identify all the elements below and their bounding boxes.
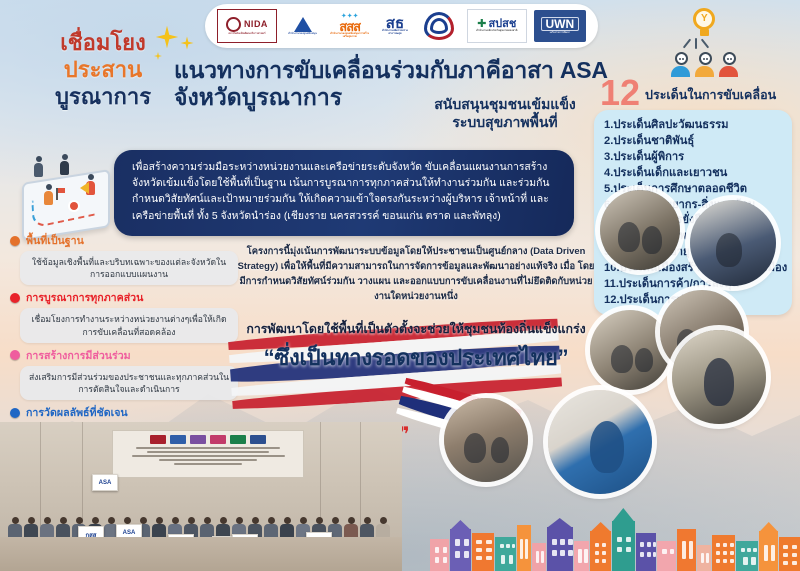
- uwn-logo-text: UWN: [541, 17, 580, 31]
- list-item: 3.ประเด็นผู้พิการ: [604, 150, 784, 166]
- spiral-logo: [419, 10, 460, 42]
- bulb-ray-center-icon: [695, 38, 697, 49]
- sss-thaihealth-logo: ✦✦✦ สสส สำนักงานกองทุนสนับสนุนการสร้างเส…: [328, 10, 371, 42]
- headline-line-1: แนวทางการขับเคลื่อนร่วมกับภาคีอาสา ASA: [174, 58, 614, 84]
- bullet-dot-icon: [10, 293, 20, 303]
- uwn-logo: UWN เครือข่ายการพัฒนา: [534, 10, 586, 42]
- principle-body: เชื่อมโยงการทำงานระหว่างหน่วยงานต่างๆเพื…: [20, 308, 238, 342]
- principle-item-integration: การบูรณาการทุกภาคส่วน เชื่อมโยงการทำงานร…: [6, 289, 238, 342]
- center-quote: “ซึ่งเป็นทางรอดของประเทศไทย”: [226, 340, 606, 375]
- person-icon-orange: [695, 52, 715, 77]
- nida-logo: NIDA สถาบันบัณฑิตพัฒนบริหารศาสตร์: [217, 9, 277, 43]
- bullet-dot-icon: [10, 236, 20, 246]
- subtitle-line-2: ระบบสุขภาพพื้นที่: [390, 114, 620, 132]
- principle-title: การสร้างการมีส่วนร่วม: [26, 347, 131, 364]
- spsch-logo-sub: สำนักงานหลักประกันสุขภาพแห่งชาติ: [476, 30, 517, 33]
- bullet-dot-icon: [10, 350, 20, 360]
- sss-logo-sub: สำนักงานกองทุนสนับสนุนการสร้างเสริมสุขภา…: [328, 33, 371, 38]
- principle-title: พื้นที่เป็นฐาน: [26, 232, 84, 249]
- lightbulb-people-graphic: Y: [665, 8, 745, 80]
- points-count: 12: [600, 78, 640, 109]
- list-item: 1.ประเด็นศิลปะวัฒนธรรม: [604, 118, 784, 134]
- moph-logo-sub: สำนักงานปลัดกระทรวงสาธารณสุข: [378, 30, 412, 35]
- center-paragraph: โครงการนี้มุ่งเน้นการพัฒนาระบบข้อมูลโดยใ…: [236, 244, 596, 303]
- nida-logo-text: NIDA: [244, 20, 268, 29]
- circle-photo-speaker-male: [672, 330, 766, 424]
- principle-title: การวัดผลลัพธ์ที่ชัดเจน: [26, 404, 128, 421]
- stage-backdrop-screen: [112, 430, 304, 478]
- principle-title: การบูรณาการทุกภาคส่วน: [26, 289, 143, 306]
- center-tagline: การพัฒนาโดยใช้พื้นที่เป็นตัวตั้งจะช่วยให…: [236, 320, 596, 339]
- intro-text-box: เพื่อสร้างความร่วมมือระหว่างหน่วยงานและเ…: [114, 150, 574, 236]
- map-planning-illustration: [8, 152, 126, 240]
- triangle-agency-logo: สำนักงานกองทุนสนับสนุน: [284, 10, 321, 42]
- list-item: 2.ประเด็นชาติพันธุ์: [604, 134, 784, 150]
- principle-body: ส่งเสริมการมีส่วนร่วมของประชาชนและทุกภาค…: [20, 366, 238, 400]
- city-skyline-graphic: [430, 518, 800, 571]
- sss-logo-text: สสส: [339, 20, 360, 33]
- person-icon-red: [719, 52, 739, 77]
- circle-photo-seminar: [590, 310, 670, 390]
- circle-photo-discussion: [444, 398, 528, 482]
- three-people-icon: [671, 52, 739, 77]
- points-header: 12 ประเด็นในการขับเคลื่อน: [600, 78, 776, 109]
- principle-item-area-based: พื้นที่เป็นฐาน ใช้ข้อมูลเชิงพื้นที่และบร…: [6, 232, 238, 285]
- subtitle: สนับสนุนชุมชนเข้มแข็ง ระบบสุขภาพพื้นที่: [390, 96, 620, 132]
- moph-logo-text: สธ: [386, 17, 404, 30]
- nida-logo-sub: สถาบันบัณฑิตพัฒนบริหารศาสตร์: [228, 33, 265, 36]
- subtitle-line-1: สนับสนุนชุมชนเข้มแข็ง: [390, 96, 620, 114]
- moph-logo: สธ สำนักงานปลัดกระทรวงสาธารณสุข: [378, 10, 412, 42]
- bulb-ray-right-icon: [701, 39, 709, 49]
- crowd: [0, 474, 402, 546]
- lightbulb-icon: Y: [693, 8, 717, 38]
- bulb-ray-left-icon: [683, 39, 691, 49]
- circle-photo-meeting-room: [690, 200, 776, 286]
- uwn-logo-sub: เครือข่ายการพัฒนา: [550, 32, 570, 34]
- triangle-agency-logo-sub: สำนักงานกองทุนสนับสนุน: [288, 33, 317, 36]
- principle-body: ใช้ข้อมูลเชิงพื้นที่และบริบทเฉพาะของแต่ล…: [20, 251, 238, 285]
- partner-logo-strip: NIDA สถาบันบัณฑิตพัฒนบริหารศาสตร์ สำนักง…: [205, 4, 598, 48]
- bullet-dot-icon: [10, 408, 20, 418]
- slogan-line-3: บูรณาการ: [28, 84, 178, 111]
- circle-photo-workshop-1: [600, 190, 680, 270]
- circle-photo-presenter-female: [548, 390, 652, 494]
- person-icon-blue: [671, 52, 691, 77]
- group-photo: ASA กสส ASA กสส ASA กสส ASA: [0, 422, 402, 571]
- principle-item-participation: การสร้างการมีส่วนร่วม ส่งเสริมการมีส่วนร…: [6, 347, 238, 400]
- spsch-logo: ✚สปสช สำนักงานหลักประกันสุขภาพแห่งชาติ: [467, 9, 527, 43]
- poster-root: NIDA สถาบันบัณฑิตพัฒนบริหารศาสตร์ สำนักง…: [0, 0, 800, 571]
- map-pin-icon: [70, 202, 78, 210]
- list-item: 4.ประเด็นเด็กและเยาวชน: [604, 166, 784, 182]
- photo-sign: ASA: [92, 474, 118, 491]
- points-header-label: ประเด็นในการขับเคลื่อน: [645, 85, 776, 109]
- arrow-icon: [80, 182, 89, 194]
